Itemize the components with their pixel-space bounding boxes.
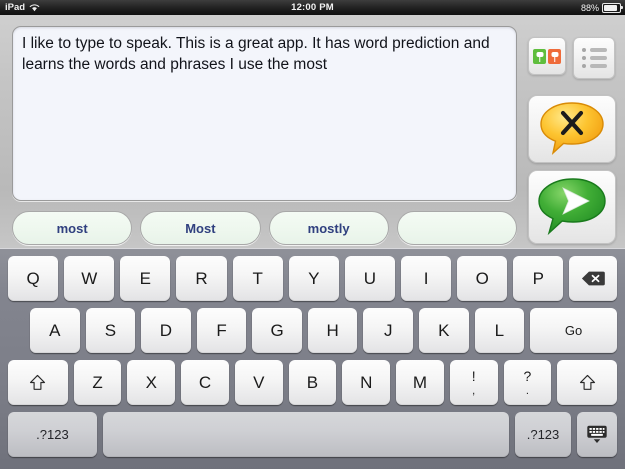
key-o[interactable]: O xyxy=(457,256,507,301)
key-a[interactable]: A xyxy=(30,308,80,353)
key-z[interactable]: Z xyxy=(74,360,122,405)
numeric-key-left[interactable]: .?123 xyxy=(8,412,97,457)
speech-bubble-play-icon xyxy=(535,175,609,240)
onscreen-keyboard: Q W E R T Y U I O P A S D F xyxy=(0,248,625,469)
battery-icon xyxy=(602,3,621,13)
prediction-word-2[interactable]: Most xyxy=(140,211,260,245)
keyboard-row-2: A S D F G H J K L Go xyxy=(0,308,625,353)
key-k[interactable]: K xyxy=(419,308,469,353)
keyboard-row-1: Q W E R T Y U I O P xyxy=(0,256,625,301)
status-bar-right: 88% xyxy=(581,3,621,13)
key-n[interactable]: N xyxy=(342,360,390,405)
ipad-aac-app: iPad 12:00 PM 88% I like to type to spea… xyxy=(0,0,625,469)
prediction-word-4[interactable] xyxy=(397,211,517,245)
shift-key-right[interactable] xyxy=(557,360,617,405)
prediction-bar: most Most mostly xyxy=(12,211,517,245)
key-r[interactable]: R xyxy=(176,256,226,301)
symbol-grid-button[interactable] xyxy=(528,37,566,75)
key-j[interactable]: J xyxy=(363,308,413,353)
word-list-button[interactable] xyxy=(573,37,615,79)
numeric-key-right[interactable]: .?123 xyxy=(515,412,571,457)
message-textbox[interactable]: I like to type to speak. This is a great… xyxy=(12,26,517,201)
key-question-period[interactable]: ? . xyxy=(504,360,552,405)
key-u[interactable]: U xyxy=(345,256,395,301)
key-exclamation-comma[interactable]: ! , xyxy=(450,360,498,405)
key-l[interactable]: L xyxy=(475,308,525,353)
go-key[interactable]: Go xyxy=(530,308,617,353)
hide-keyboard-icon xyxy=(585,423,609,447)
key-s[interactable]: S xyxy=(86,308,136,353)
key-x[interactable]: X xyxy=(127,360,175,405)
backspace-key[interactable] xyxy=(569,256,617,301)
shift-key-left[interactable] xyxy=(8,360,68,405)
message-text: I like to type to speak. This is a great… xyxy=(22,33,507,75)
key-question-label: ? xyxy=(524,369,532,383)
compose-area: I like to type to speak. This is a great… xyxy=(0,15,625,248)
key-m[interactable]: M xyxy=(396,360,444,405)
shift-icon xyxy=(29,374,46,391)
list-icon xyxy=(582,48,607,68)
key-w[interactable]: W xyxy=(64,256,114,301)
hide-keyboard-key[interactable] xyxy=(577,412,617,457)
key-period-label: . xyxy=(526,386,529,397)
key-b[interactable]: B xyxy=(289,360,337,405)
key-e[interactable]: E xyxy=(120,256,170,301)
key-v[interactable]: V xyxy=(235,360,283,405)
key-t[interactable]: T xyxy=(233,256,283,301)
key-comma-label: , xyxy=(472,386,475,397)
key-h[interactable]: H xyxy=(308,308,358,353)
keyboard-row-4: .?123 .?123 xyxy=(0,412,625,457)
clear-button[interactable] xyxy=(528,95,616,163)
key-g[interactable]: G xyxy=(252,308,302,353)
key-d[interactable]: D xyxy=(141,308,191,353)
clock-label: 12:00 PM xyxy=(0,2,625,13)
backspace-icon xyxy=(581,270,605,287)
key-p[interactable]: P xyxy=(513,256,563,301)
speak-button[interactable] xyxy=(528,170,616,244)
key-i[interactable]: I xyxy=(401,256,451,301)
prediction-word-3[interactable]: mostly xyxy=(269,211,389,245)
prediction-word-1[interactable]: most xyxy=(12,211,132,245)
key-exclamation-label: ! xyxy=(472,369,476,383)
symbol-grid-icon xyxy=(533,49,561,64)
key-y[interactable]: Y xyxy=(289,256,339,301)
battery-percent-label: 88% xyxy=(581,3,599,13)
status-bar: iPad 12:00 PM 88% xyxy=(0,0,625,15)
space-key[interactable] xyxy=(103,412,509,457)
shift-icon xyxy=(579,374,596,391)
key-q[interactable]: Q xyxy=(8,256,58,301)
key-f[interactable]: F xyxy=(197,308,247,353)
speech-bubble-x-icon xyxy=(537,99,607,160)
key-c[interactable]: C xyxy=(181,360,229,405)
keyboard-row-3: Z X C V B N M ! , ? . xyxy=(0,360,625,405)
